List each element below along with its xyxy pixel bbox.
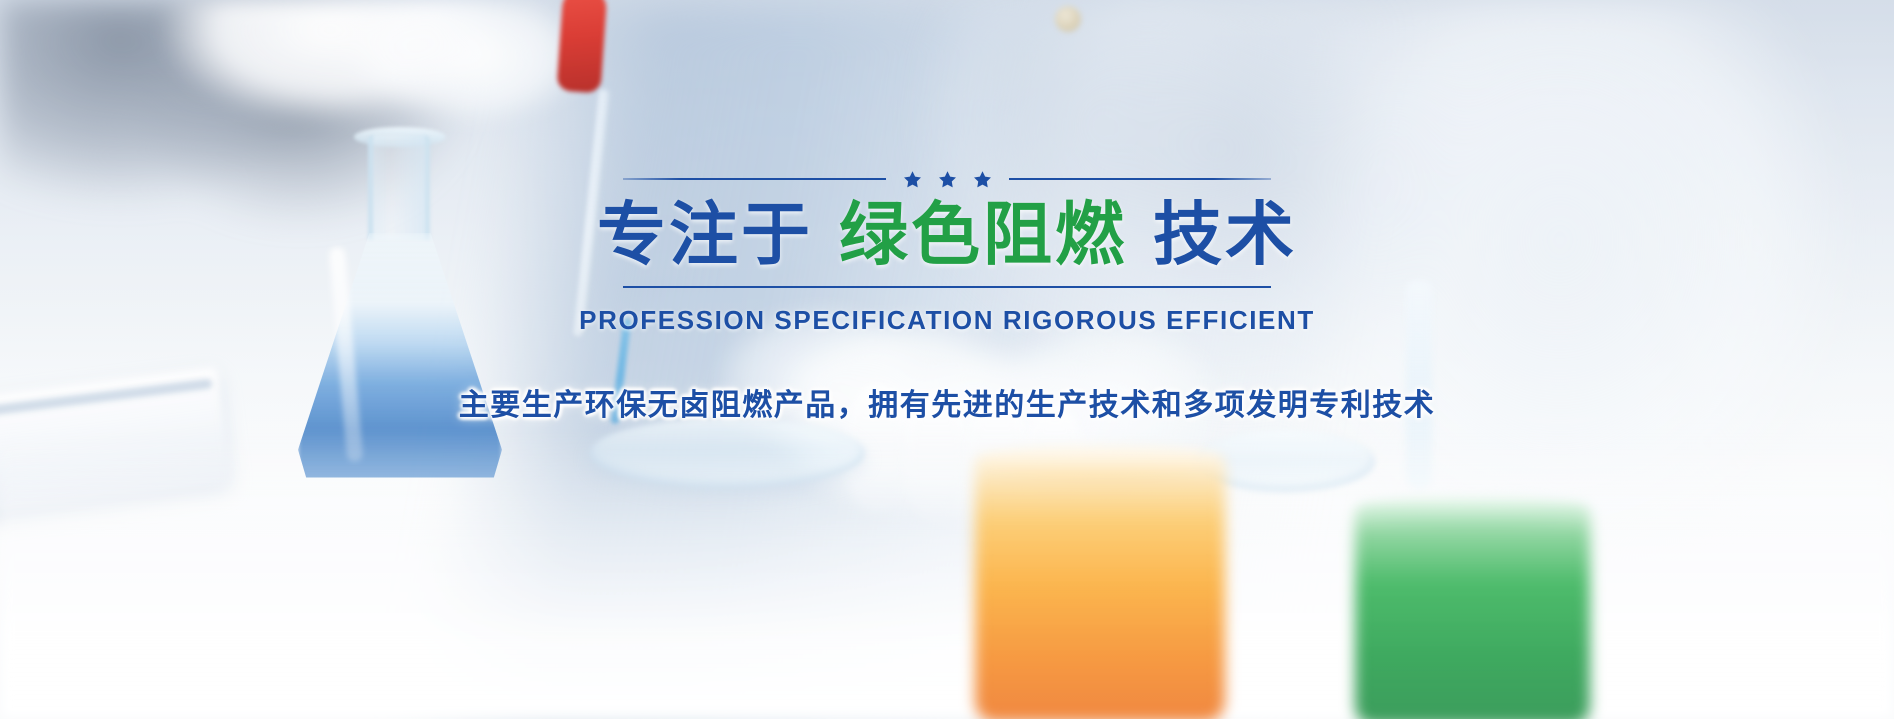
hero-banner: 专注于绿色阻燃技术 PROFESSION SPECIFICATION RIGOR…	[0, 0, 1894, 719]
star-group	[903, 170, 992, 189]
banner-headline: 专注于绿色阻燃技术	[597, 198, 1297, 273]
divider-rule-left	[623, 178, 886, 180]
headline-part-1: 专注于	[597, 196, 813, 273]
star-icon	[973, 170, 992, 189]
headline-part-3: 技术	[1153, 196, 1297, 273]
star-divider	[623, 168, 1271, 190]
headline-underline	[623, 286, 1271, 288]
headline-part-2: 绿色阻燃	[839, 196, 1127, 273]
star-icon	[938, 170, 957, 189]
banner-tagline-chinese: 主要生产环保无卤阻燃产品，拥有先进的生产技术和多项发明专利技术	[459, 380, 1436, 424]
star-icon	[903, 170, 922, 189]
divider-rule-right	[1009, 178, 1272, 180]
banner-content: 专注于绿色阻燃技术 PROFESSION SPECIFICATION RIGOR…	[0, 0, 1894, 424]
banner-subtitle-english: PROFESSION SPECIFICATION RIGOROUS EFFICI…	[579, 305, 1315, 336]
